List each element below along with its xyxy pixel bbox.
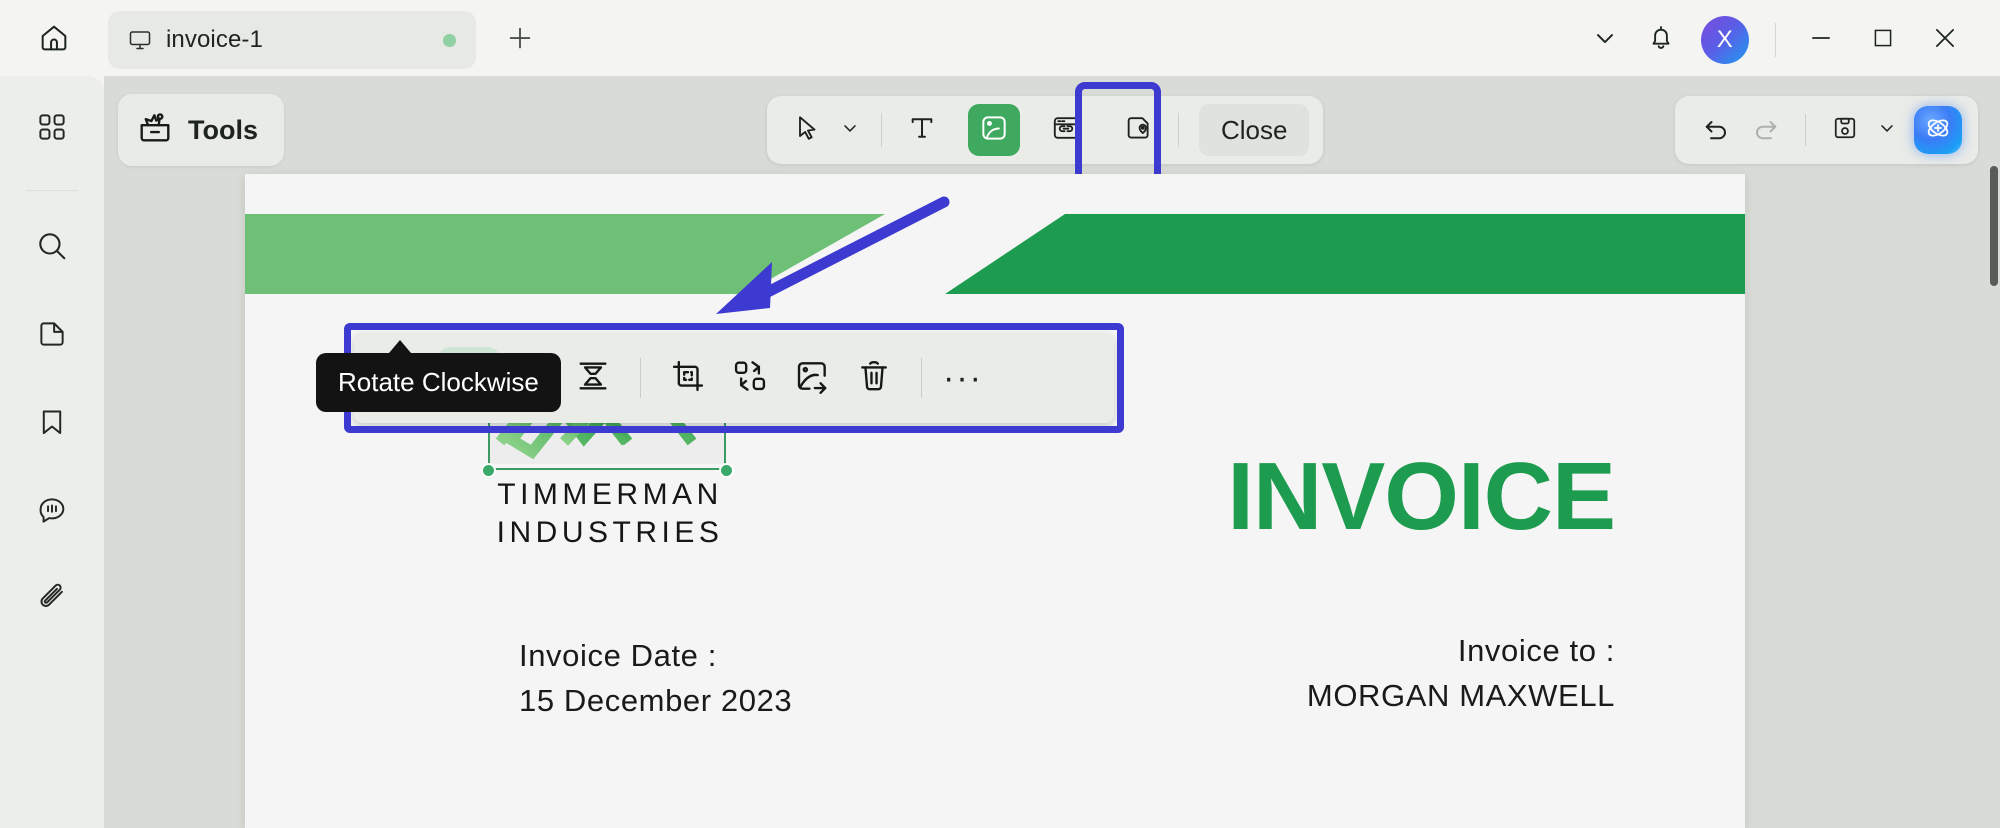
location-tool-button[interactable] [1112, 104, 1164, 156]
annotation-toolbar: Close [767, 96, 1323, 164]
tools-button[interactable]: Tools [118, 94, 284, 166]
invoice-to-label: Invoice to : [1307, 629, 1615, 674]
save-icon [1830, 113, 1860, 148]
tooltip: Rotate Clockwise [316, 353, 561, 412]
image-tool-icon [978, 112, 1010, 149]
titlebar-right-group: X [1577, 0, 2000, 80]
image-toolbar-divider-1 [640, 358, 641, 398]
title-bar: invoice-1 [0, 0, 2000, 80]
replace-image-button[interactable] [719, 347, 781, 409]
document-actions-toolbar [1675, 96, 1978, 164]
text-tool-icon [906, 112, 938, 149]
undo-icon [1701, 113, 1731, 148]
trash-icon [855, 357, 893, 400]
header-band-left [245, 214, 885, 294]
image-tool-button[interactable] [968, 104, 1020, 156]
toolbar-divider-2 [1178, 113, 1179, 147]
left-sidebar [0, 76, 104, 828]
save-button[interactable] [1820, 105, 1870, 155]
invoice-title: INVOICE [1227, 442, 1615, 552]
close-window-button[interactable] [1914, 9, 1976, 71]
attachment-icon [35, 581, 69, 620]
invoice-date-block: Invoice Date : 15 December 2023 [519, 634, 792, 724]
comment-icon [35, 493, 69, 532]
minimize-button[interactable] [1790, 9, 1852, 71]
minimize-icon [1807, 24, 1835, 57]
chevron-down-icon [1877, 118, 1897, 143]
invoice-date-value: 15 December 2023 [519, 679, 792, 724]
toolbox-icon [136, 109, 174, 152]
link-tool-button[interactable] [1040, 104, 1092, 156]
document-tab[interactable]: invoice-1 [108, 11, 476, 69]
titlebar-divider [1775, 23, 1776, 57]
sidebar-divider [26, 190, 78, 191]
invoice-date-label: Invoice Date : [519, 634, 792, 679]
grid-icon [35, 110, 69, 149]
bell-icon [1646, 23, 1676, 58]
brand-line-2: INDUSTRIES [445, 514, 775, 552]
undo-button[interactable] [1691, 105, 1741, 155]
home-icon [38, 22, 70, 59]
link-tool-icon [1050, 112, 1082, 149]
close-annotation-button[interactable]: Close [1199, 104, 1309, 156]
maximize-button[interactable] [1852, 9, 1914, 71]
redo-icon [1751, 113, 1781, 148]
delete-button[interactable] [843, 347, 905, 409]
location-tool-icon [1122, 112, 1154, 149]
vertical-scrollbar-thumb[interactable] [1990, 166, 1998, 286]
maximize-icon [1870, 25, 1896, 56]
sidebar-item-bookmarks[interactable] [21, 393, 83, 455]
bookmark-icon [35, 405, 69, 444]
brand-name: TIMMERMAN INDUSTRIES [445, 476, 775, 553]
extract-image-button[interactable] [781, 347, 843, 409]
tooltip-arrow [389, 340, 411, 353]
notifications-button[interactable] [1633, 12, 1689, 68]
image-toolbar-divider-2 [921, 358, 922, 398]
sidebar-item-comments[interactable] [21, 481, 83, 543]
close-icon [1930, 23, 1960, 58]
text-tool-button[interactable] [896, 104, 948, 156]
ai-assistant-button[interactable] [1914, 106, 1962, 154]
replace-image-icon [731, 357, 769, 400]
page-icon [35, 317, 69, 356]
invoice-to-value: MORGAN MAXWELL [1307, 674, 1615, 719]
extract-image-icon [793, 357, 831, 400]
editor-area: Tools [104, 76, 2000, 828]
search-icon [34, 228, 70, 269]
sidebar-item-grid[interactable] [21, 98, 83, 160]
sidebar-item-search[interactable] [21, 217, 83, 279]
tab-status-dot [443, 34, 456, 47]
home-button[interactable] [32, 18, 76, 62]
document-page[interactable]: TIMMERMAN INDUSTRIES INVOICE Invoice Dat… [245, 174, 1745, 828]
tools-label: Tools [188, 115, 258, 146]
tab-label: invoice-1 [166, 26, 443, 54]
flip-vertical-icon [574, 357, 612, 400]
application-window: invoice-1 [0, 0, 2000, 828]
flip-vertical-button[interactable] [562, 347, 624, 409]
invoice-to-block: Invoice to : MORGAN MAXWELL [1307, 629, 1615, 719]
save-options-caret[interactable] [1870, 105, 1904, 155]
select-tool-caret[interactable] [833, 104, 867, 156]
titlebar-chevron-button[interactable] [1577, 12, 1633, 68]
plus-icon [505, 23, 535, 58]
brand-line-1: TIMMERMAN [445, 476, 775, 514]
cursor-arrow-icon [792, 113, 822, 148]
user-avatar[interactable]: X [1701, 16, 1749, 64]
toolbar-divider-1 [881, 113, 882, 147]
ai-assistant-icon [1922, 112, 1954, 149]
chevron-down-icon [840, 118, 860, 143]
toolbar-divider-3 [1805, 114, 1806, 146]
crop-button[interactable] [657, 347, 719, 409]
select-tool-button[interactable] [781, 104, 833, 156]
sidebar-item-attachments[interactable] [21, 569, 83, 631]
redo-button[interactable] [1741, 105, 1791, 155]
sidebar-item-pages[interactable] [21, 305, 83, 367]
monitor-icon [128, 28, 152, 52]
more-options-button[interactable]: ··· [938, 347, 988, 409]
header-band-right [945, 214, 1745, 294]
new-tab-button[interactable] [498, 18, 542, 62]
chevron-down-icon [1591, 24, 1619, 57]
crop-icon [669, 357, 707, 400]
